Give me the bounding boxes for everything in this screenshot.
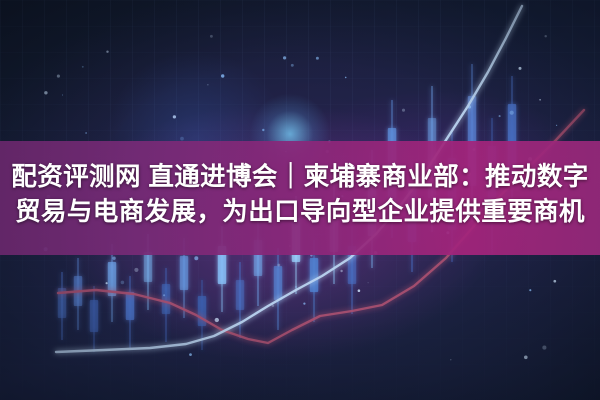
banner-image: 配资评测网 直通进博会｜柬埔寨商业部：推动数字贸易与电商发展，为出口导向型企业提… (0, 0, 600, 400)
banner-headline: 配资评测网 直通进博会｜柬埔寨商业部：推动数字贸易与电商发展，为出口导向型企业提… (0, 160, 600, 230)
